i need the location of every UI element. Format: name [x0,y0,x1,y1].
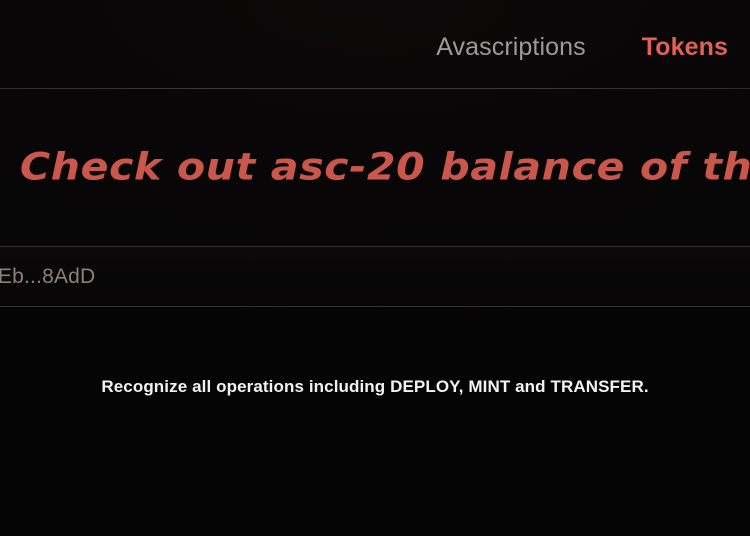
nav-items: Avascriptions Tokens [436,33,728,62]
hero-section: Check out asc-20 balance of the address. [0,89,750,246]
page-title: Check out asc-20 balance of the address. [20,146,750,188]
nav-link-avascriptions[interactable]: Avascriptions [436,33,586,62]
address-input-row[interactable]: 9Eb...8AdD [0,246,750,307]
caption-section: Recognize all operations including DEPLO… [0,307,750,467]
nav-link-tokens[interactable]: Tokens [642,33,728,62]
top-navigation: Avascriptions Tokens [0,0,750,89]
operations-caption: Recognize all operations including DEPLO… [101,377,648,397]
page-root: Avascriptions Tokens Check out asc-20 ba… [0,0,750,536]
address-value: 9Eb...8AdD [0,265,95,289]
